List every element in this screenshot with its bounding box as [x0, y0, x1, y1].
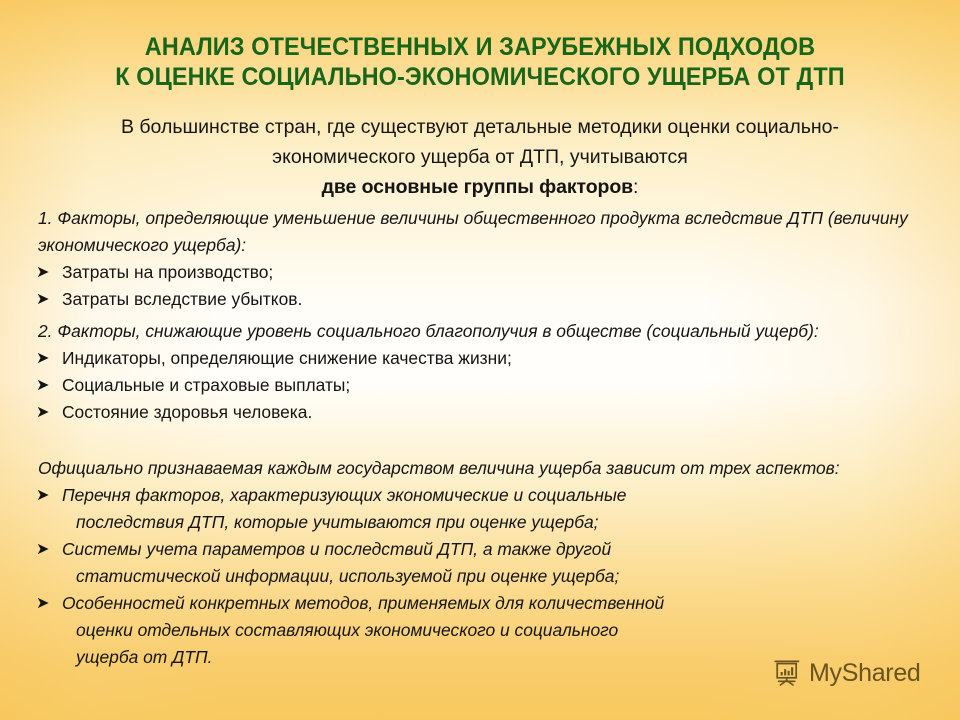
list-item: ➤ Индикаторы, определяющие снижение каче… — [0, 345, 960, 372]
list-item-line: Затраты на производство; — [62, 259, 930, 286]
intro-emphasis-line: две основные группы факторов: — [28, 172, 932, 202]
list-item: ➤ Социальные и страховые выплаты; — [0, 372, 960, 399]
section-3-paragraph: Официально признаваемая каждым государст… — [0, 455, 960, 482]
intro-emphasis-text: две основные группы факторов — [322, 176, 633, 198]
list-item-line: Особенностей конкретных методов, применя… — [62, 590, 930, 617]
myshared-wordmark: MyShared — [809, 658, 921, 688]
section-3-paragraph-line-2: аспектов: — [756, 458, 840, 478]
list-item-line: оценки отдельных составляющих экономичес… — [62, 617, 930, 644]
title-line-2: К ОЦЕНКЕ СОЦИАЛЬНО-ЭКОНОМИЧЕСКОГО УЩЕРБА… — [29, 62, 931, 92]
list-item: ➤ Перечня факторов, характеризующих экон… — [0, 482, 960, 536]
section-2-paragraph-line-1: 2. Факторы, снижающие уровень социальног… — [38, 321, 751, 341]
list-item: ➤ Затраты на производство; — [0, 259, 960, 286]
section-1-paragraph-line-1: 1. Факторы, определяющие уменьшение вели… — [38, 208, 680, 228]
slide-title: АНАЛИЗ ОТЕЧЕСТВЕННЫХ И ЗАРУБЕЖНЫХ ПОДХОД… — [0, 32, 960, 92]
presentation-chart-icon — [772, 658, 802, 688]
section-3: Официально признаваемая каждым государст… — [0, 455, 960, 671]
arrow-bullet-icon: ➤ — [36, 399, 49, 426]
section-3-paragraph-line-1: Официально признаваемая каждым государст… — [38, 458, 751, 478]
section-2: 2. Факторы, снижающие уровень социальног… — [0, 318, 960, 426]
intro-line-2: экономического ущерба от ДТП, учитываютс… — [28, 142, 932, 172]
list-item-line: статистической информации, используемой … — [62, 563, 930, 590]
list-item-line: Системы учета параметров и последствий Д… — [62, 536, 930, 563]
slide-canvas: АНАЛИЗ ОТЕЧЕСТВЕННЫХ И ЗАРУБЕЖНЫХ ПОДХОД… — [0, 0, 960, 720]
list-item-line: Социальные и страховые выплаты; — [62, 372, 930, 399]
section-2-paragraph: 2. Факторы, снижающие уровень социальног… — [0, 318, 960, 345]
list-item-line: Индикаторы, определяющие снижение качест… — [62, 345, 930, 372]
section-3-bullet-list: ➤ Перечня факторов, характеризующих экон… — [0, 482, 960, 671]
arrow-bullet-icon: ➤ — [36, 536, 49, 563]
title-line-1: АНАЛИЗ ОТЕЧЕСТВЕННЫХ И ЗАРУБЕЖНЫХ ПОДХОД… — [29, 32, 931, 62]
arrow-bullet-icon: ➤ — [36, 259, 49, 286]
myshared-watermark: MyShared — [772, 658, 921, 688]
list-item-line: Затраты вследствие убытков. — [62, 286, 930, 313]
arrow-bullet-icon: ➤ — [36, 372, 49, 399]
list-item-line: Состояние здоровья человека. — [62, 399, 930, 426]
intro-emphasis-colon: : — [633, 176, 638, 198]
arrow-bullet-icon: ➤ — [36, 286, 49, 313]
section-1-paragraph: 1. Факторы, определяющие уменьшение вели… — [0, 205, 960, 259]
list-item-line: Перечня факторов, характеризующих эконом… — [62, 482, 930, 509]
intro-line-1: В большинстве стран, где существуют дета… — [28, 112, 932, 142]
list-item: ➤ Затраты вследствие убытков. — [0, 286, 960, 313]
section-2-paragraph-line-2: ущерб): — [755, 321, 818, 341]
section-2-bullet-list: ➤ Индикаторы, определяющие снижение каче… — [0, 345, 960, 426]
arrow-bullet-icon: ➤ — [36, 482, 49, 509]
intro-paragraph: В большинстве стран, где существуют дета… — [28, 112, 932, 202]
arrow-bullet-icon: ➤ — [36, 590, 49, 617]
list-item: ➤ Системы учета параметров и последствий… — [0, 536, 960, 590]
list-item: ➤ Состояние здоровья человека. — [0, 399, 960, 426]
arrow-bullet-icon: ➤ — [36, 345, 49, 372]
list-item-line: последствия ДТП, которые учитываются при… — [62, 509, 930, 536]
section-1: 1. Факторы, определяющие уменьшение вели… — [0, 205, 960, 313]
section-1-bullet-list: ➤ Затраты на производство; ➤ Затраты всл… — [0, 259, 960, 313]
